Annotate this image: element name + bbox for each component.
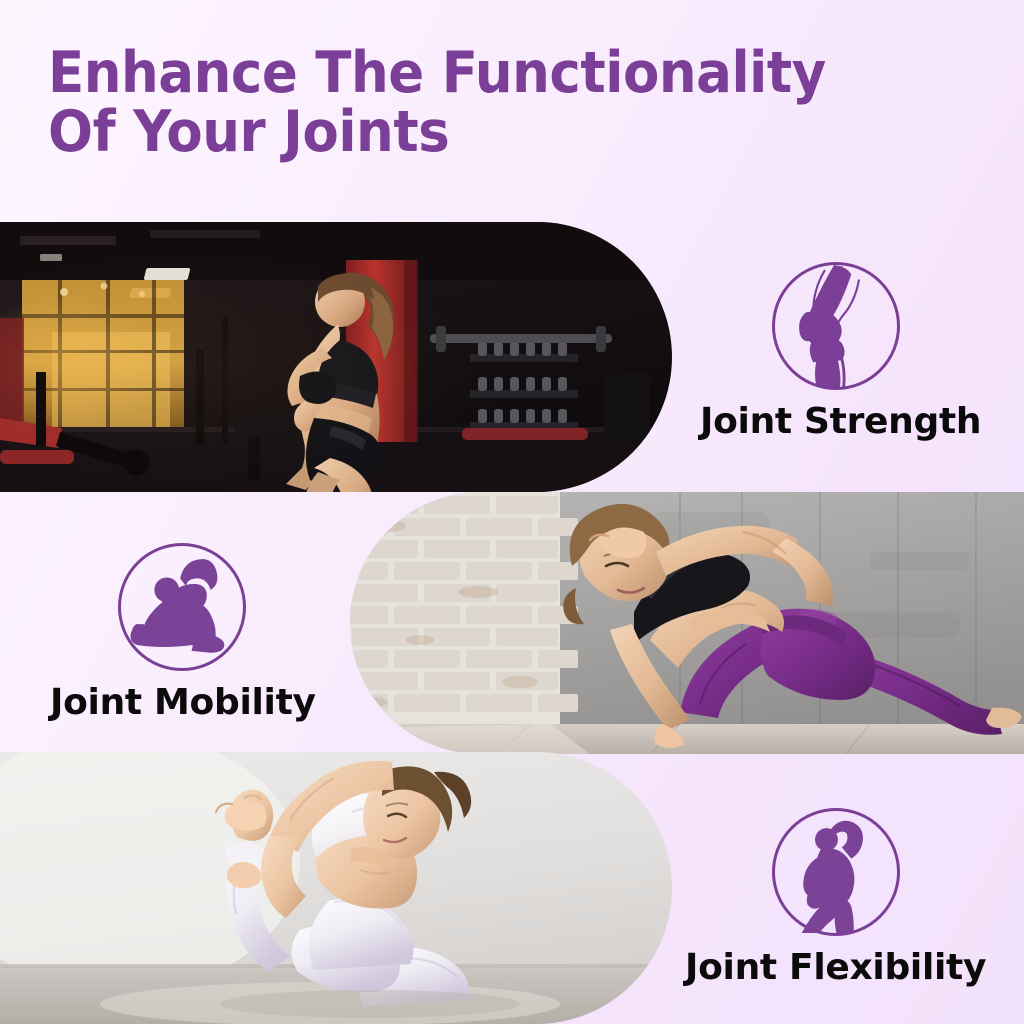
feature-joint-mobility: Joint Mobility (50, 543, 316, 721)
feature-label-joint-mobility: Joint Mobility (50, 685, 316, 721)
woman-side-plank-stretch-photo (350, 492, 1024, 754)
seated-forward-stretch-icon (118, 543, 246, 671)
feature-label-joint-flexibility: Joint Flexibility (685, 950, 986, 986)
woman-kneeling-quad-stretch-photo (0, 752, 672, 1024)
page-title: Enhance The Functionality Of Your Joints (48, 44, 922, 161)
knee-joint-icon (772, 262, 900, 390)
feature-label-joint-strength: Joint Strength (700, 404, 981, 440)
woman-squatting-in-gym-photo (0, 222, 672, 492)
standing-stretch-figure-icon (772, 808, 900, 936)
feature-joint-strength: Joint Strength (700, 262, 981, 440)
feature-joint-flexibility: Joint Flexibility (685, 808, 986, 986)
